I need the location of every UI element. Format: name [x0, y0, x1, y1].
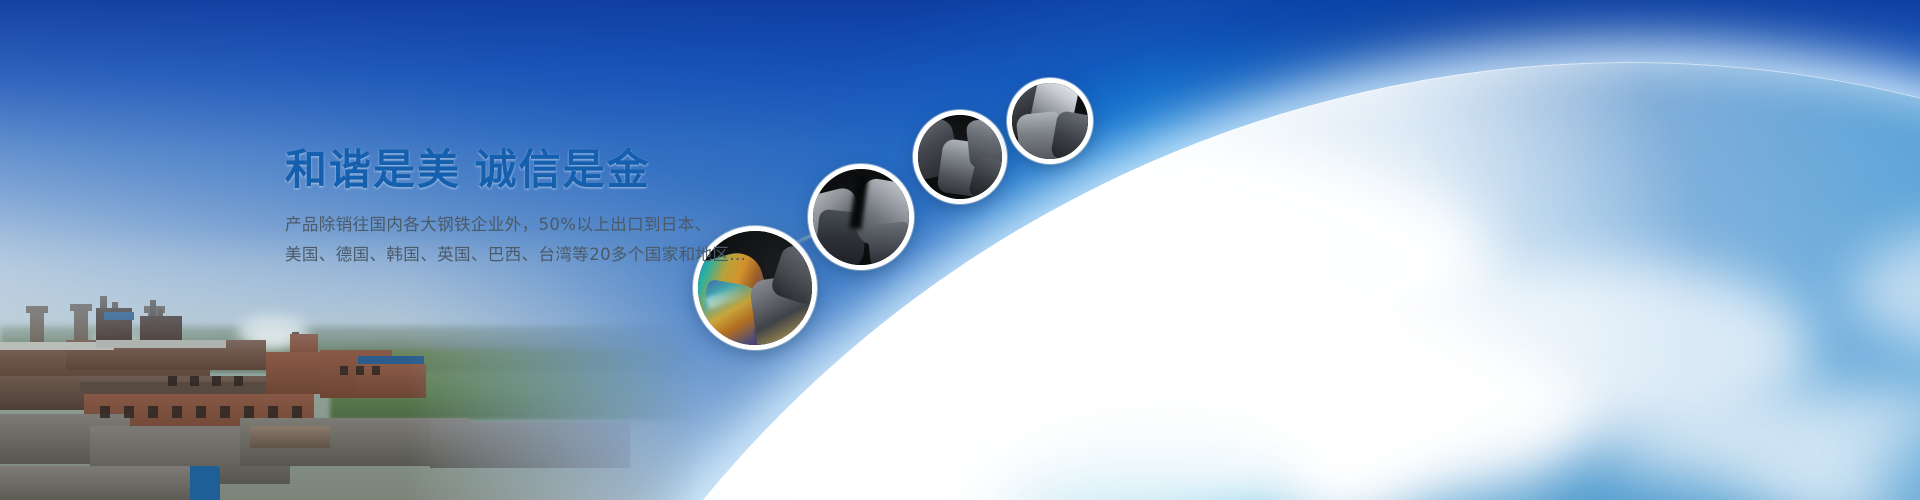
building-window	[372, 366, 380, 375]
ore-chunk	[1050, 110, 1093, 164]
banner-subtitle: 产品除销往国内各大钢铁企业外，50%以上出口到日本、 美国、德国、韩国、英国、巴…	[285, 210, 725, 270]
building-window	[148, 406, 158, 418]
brick-building	[356, 364, 426, 398]
ore-thumb-grey-split[interactable]	[808, 164, 914, 270]
ore-thumb-dark-rock[interactable]	[913, 110, 1007, 204]
building-window	[244, 406, 254, 418]
building-window	[356, 366, 364, 375]
plant-structure-blue	[104, 312, 134, 320]
subtitle-line-1: 产品除销往国内各大钢铁企业外，50%以上出口到日本、	[285, 210, 725, 240]
ore-thumb-silver-rock[interactable]	[1007, 78, 1093, 164]
building-window	[124, 406, 134, 418]
shed-roof	[0, 466, 190, 500]
cooling-tower	[70, 304, 92, 311]
brick-building	[266, 352, 326, 394]
building-window	[196, 406, 206, 418]
grey-ore-photo	[813, 169, 909, 265]
building-window	[340, 366, 348, 375]
building-window	[190, 376, 199, 386]
building-window	[292, 406, 302, 418]
building-window	[168, 376, 177, 386]
building-window	[100, 406, 110, 418]
cooling-tower	[26, 306, 48, 313]
building-window	[172, 406, 182, 418]
building-window	[234, 376, 243, 386]
ore-chunk	[867, 221, 914, 270]
building-window	[212, 376, 221, 386]
steel-plant-photo	[0, 230, 700, 500]
building-window	[220, 406, 230, 418]
dark-ore-photo	[918, 115, 1002, 199]
silver-ore-photo	[1012, 83, 1088, 159]
banner-copy: 和谐是美 诚信是金 产品除销往国内各大钢铁企业外，50%以上出口到日本、 美国、…	[285, 146, 725, 270]
pavilion-roof	[250, 426, 330, 448]
building-window	[268, 406, 278, 418]
subtitle-line-2: 美国、德国、韩国、英国、巴西、台湾等20多个国家和地区...	[285, 240, 725, 270]
shed-roof	[430, 422, 630, 468]
mill-roof	[96, 340, 226, 348]
hero-banner: 和谐是美 诚信是金 产品除销往国内各大钢铁企业外，50%以上出口到日本、 美国、…	[0, 0, 1920, 500]
banner-headline: 和谐是美 诚信是金	[285, 146, 725, 193]
